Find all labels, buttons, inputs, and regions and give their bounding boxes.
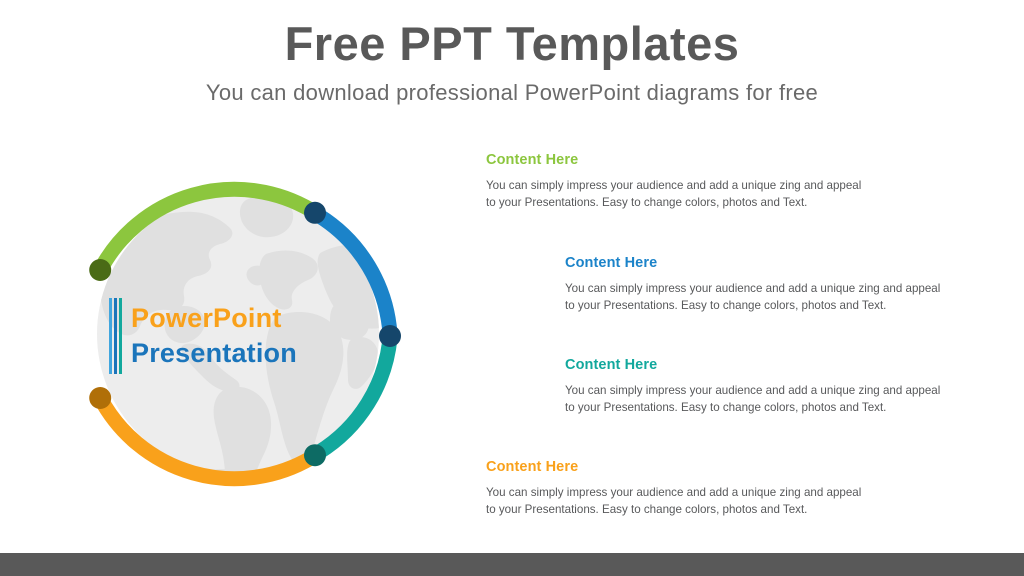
content-block-4-body-line-1: You can simply impress your audience and…: [486, 484, 861, 502]
content-block-2-body-line-1: You can simply impress your audience and…: [565, 280, 940, 298]
slide-canvas: Free PPT Templates You can download prof…: [0, 0, 1024, 576]
content-block-2-body-line-2: to your Presentations. Easy to change co…: [565, 297, 940, 315]
content-block-4-heading: Content Here: [486, 460, 861, 475]
content-block-3: Content Here You can simply impress your…: [565, 358, 940, 417]
content-block-1-body: You can simply impress your audience and…: [486, 177, 861, 212]
content-block-1-body-line-1: You can simply impress your audience and…: [486, 177, 861, 195]
content-block-4-body-line-2: to your Presentations. Easy to change co…: [486, 501, 861, 519]
content-blocks-area: Content Here You can simply impress your…: [0, 0, 1024, 576]
content-block-2-body: You can simply impress your audience and…: [565, 280, 940, 315]
content-block-2: Content Here You can simply impress your…: [565, 256, 940, 315]
content-block-3-body-line-1: You can simply impress your audience and…: [565, 382, 940, 400]
content-block-3-heading: Content Here: [565, 358, 940, 373]
content-block-4-body: You can simply impress your audience and…: [486, 484, 861, 519]
content-block-4: Content Here You can simply impress your…: [486, 460, 861, 519]
content-block-1: Content Here You can simply impress your…: [486, 153, 861, 212]
content-block-1-body-line-2: to your Presentations. Easy to change co…: [486, 194, 861, 212]
content-block-3-body: You can simply impress your audience and…: [565, 382, 940, 417]
footer-bar: [0, 553, 1024, 576]
content-block-3-body-line-2: to your Presentations. Easy to change co…: [565, 399, 940, 417]
content-block-2-heading: Content Here: [565, 256, 940, 271]
content-block-1-heading: Content Here: [486, 153, 861, 168]
